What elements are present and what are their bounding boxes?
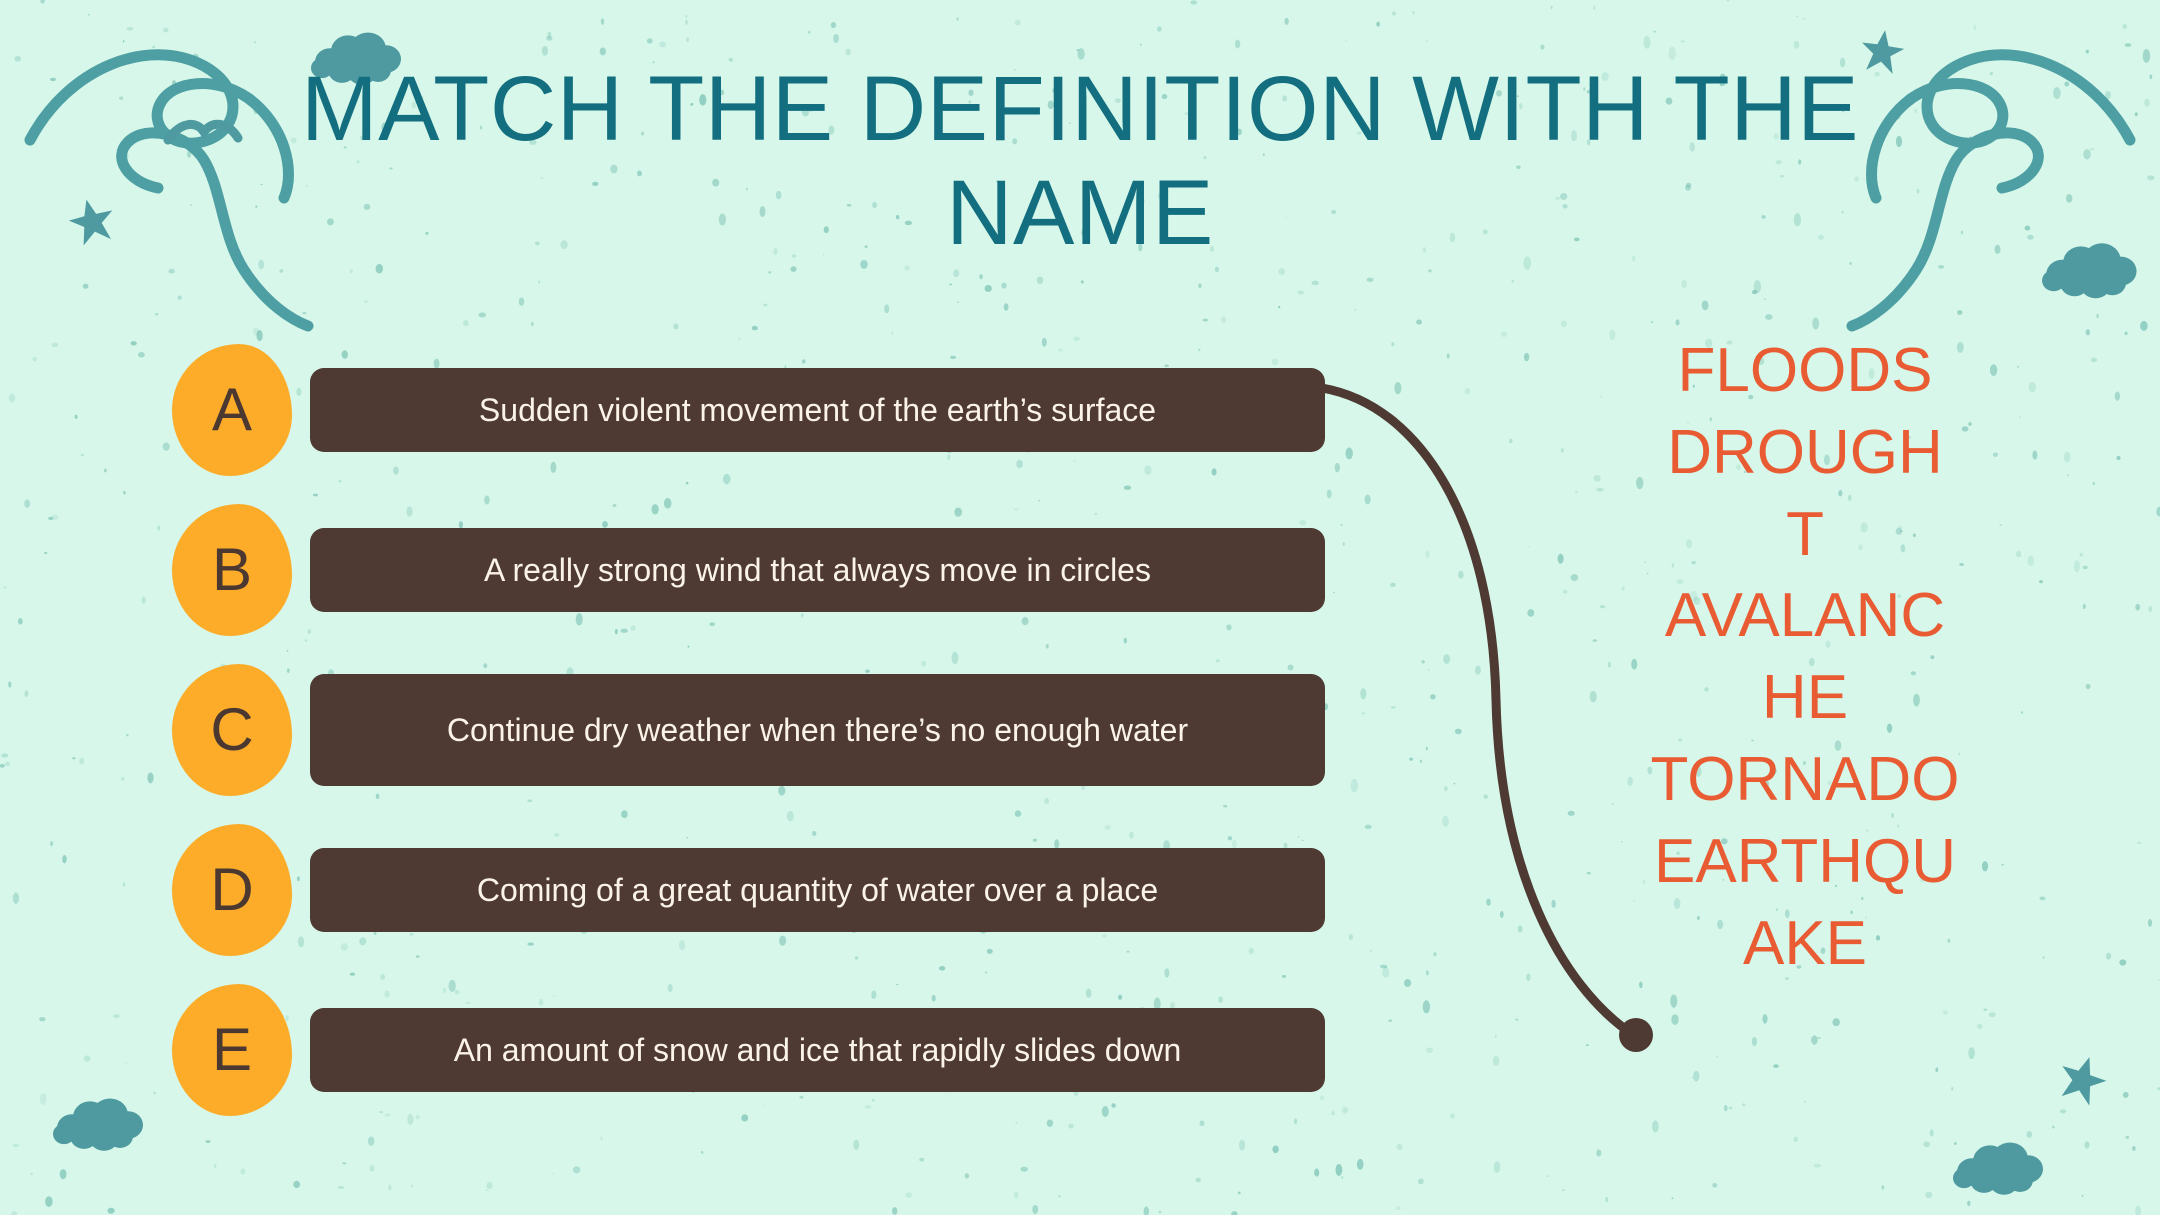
definition-row: ASudden violent movement of the earth’s … (0, 330, 1360, 490)
letter-badge-d[interactable]: D (172, 824, 292, 956)
definition-row: EAn amount of snow and ice that rapidly … (0, 970, 1360, 1130)
letter-badge-a[interactable]: A (172, 344, 292, 476)
cloud-bottom-right-icon (1953, 1142, 2043, 1194)
answer-word-floods[interactable]: FLOODS (1650, 330, 1960, 412)
letter-badge-b[interactable]: B (172, 504, 292, 636)
connector-line-a-to-earthquake (1322, 388, 1632, 1034)
definition-bar-a[interactable]: Sudden violent movement of the earth’s s… (310, 368, 1325, 452)
cloud-right-icon (2042, 243, 2137, 298)
answer-word-tornado[interactable]: TORNADO (1650, 739, 1960, 821)
answer-word-earthquake[interactable]: EARTHQUAKE (1650, 821, 1960, 985)
bird-doodle-icon (168, 124, 238, 140)
answer-word-avalanche[interactable]: AVALANCHE (1650, 575, 1960, 739)
definitions-column: ASudden violent movement of the earth’s … (0, 330, 1360, 1130)
definition-bar-d[interactable]: Coming of a great quantity of water over… (310, 848, 1325, 932)
star-bottom-right-icon (2053, 1050, 2111, 1108)
page-title: MATCH THE DEFINITION WITH THE NAME (230, 58, 1930, 266)
slide-canvas: MATCH THE DEFINITION WITH THE NAME ASudd… (0, 0, 2160, 1215)
definition-row: BA really strong wind that always move i… (0, 490, 1360, 650)
answers-column: FLOODSDROUGHTAVALANCHETORNADOEARTHQUAKE (1650, 330, 1960, 985)
letter-badge-c[interactable]: C (172, 664, 292, 796)
connector-endpoint-dot (1619, 1018, 1653, 1052)
definition-row: DComing of a great quantity of water ove… (0, 810, 1360, 970)
definition-bar-b[interactable]: A really strong wind that always move in… (310, 528, 1325, 612)
letter-badge-e[interactable]: E (172, 984, 292, 1116)
answer-word-drought[interactable]: DROUGHT (1650, 412, 1960, 576)
definition-bar-c[interactable]: Continue dry weather when there’s no eno… (310, 674, 1325, 786)
definition-bar-e[interactable]: An amount of snow and ice that rapidly s… (310, 1008, 1325, 1092)
star-top-left-icon (65, 194, 119, 248)
definition-row: CContinue dry weather when there’s no en… (0, 650, 1360, 810)
